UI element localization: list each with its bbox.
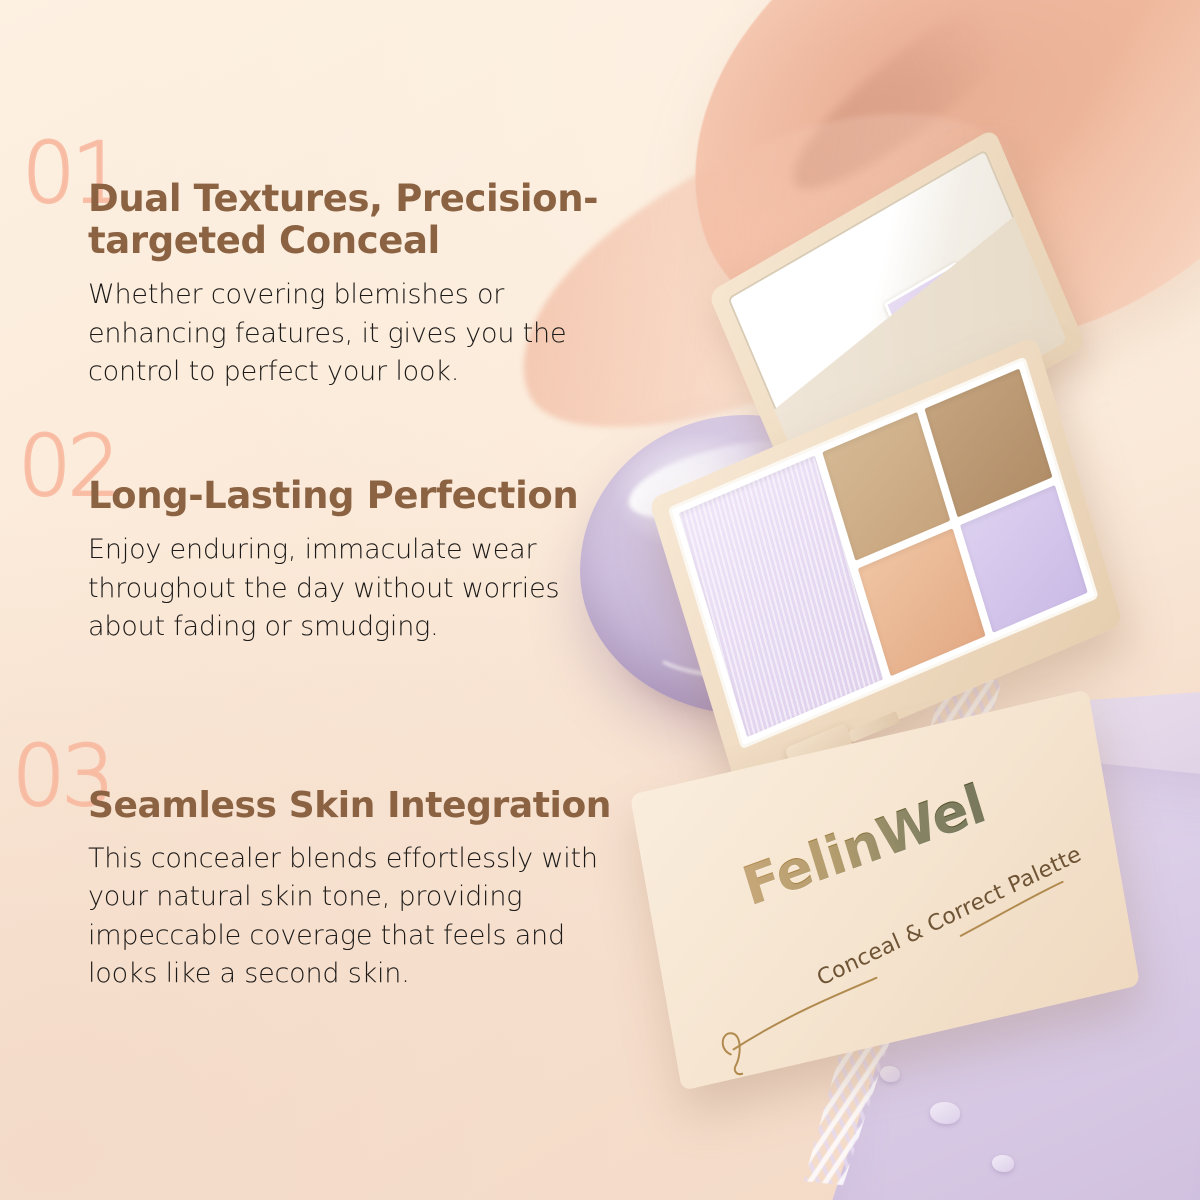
brand-logo: FelinWel <box>736 772 992 918</box>
product-image: FelinWel Conceal & Correct Palette <box>640 180 1200 1100</box>
feature-title-2: Long-Lasting Perfection <box>0 435 620 517</box>
feature-item-1: 01 Dual Textures, Precision-targeted Con… <box>0 140 620 391</box>
feature-item-2: 02 Long-Lasting Perfection Enjoy endurin… <box>0 435 620 646</box>
mirror-reflection-beige-pan <box>956 243 1038 335</box>
feature-list: 01 Dual Textures, Precision-targeted Con… <box>0 0 660 1200</box>
feature-body-2: Enjoy enduring, immaculate wear througho… <box>0 531 620 646</box>
powder-crumb-icon <box>992 1155 1014 1172</box>
feature-body-1: Whether covering blemishes or enhancing … <box>0 276 620 391</box>
feature-title-1: Dual Textures, Precision-targeted Concea… <box>0 140 620 262</box>
feature-item-3: 03 Seamless Skin Integration This concea… <box>0 745 620 993</box>
promo-canvas: 01 Dual Textures, Precision-targeted Con… <box>0 0 1200 1200</box>
feature-body-3: This concealer blends effortlessly with … <box>0 840 620 993</box>
powder-crumb-icon <box>930 1102 960 1124</box>
shade-pan-tray <box>668 356 1099 749</box>
mirror-reflection-lilac-pan <box>884 262 983 367</box>
feature-title-3: Seamless Skin Integration <box>0 745 620 826</box>
product-box: FelinWel Conceal & Correct Palette <box>630 689 1140 1091</box>
